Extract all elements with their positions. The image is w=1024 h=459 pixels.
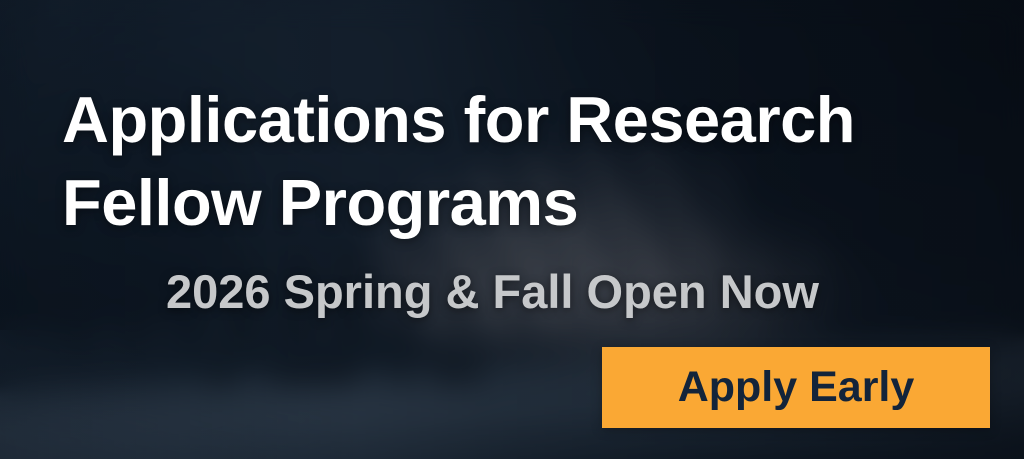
headline-line-2: Fellow Programs [62,161,942,244]
banner-headline: Applications for Research Fellow Program… [62,78,942,244]
apply-early-button-label: Apply Early [678,366,915,409]
apply-early-button[interactable]: Apply Early [602,347,990,428]
promo-banner: Applications for Research Fellow Program… [0,0,1024,459]
banner-content: Applications for Research Fellow Program… [0,0,1024,459]
headline-line-1: Applications for Research [62,78,942,161]
banner-subheadline: 2026 Spring & Fall Open Now [166,264,819,319]
